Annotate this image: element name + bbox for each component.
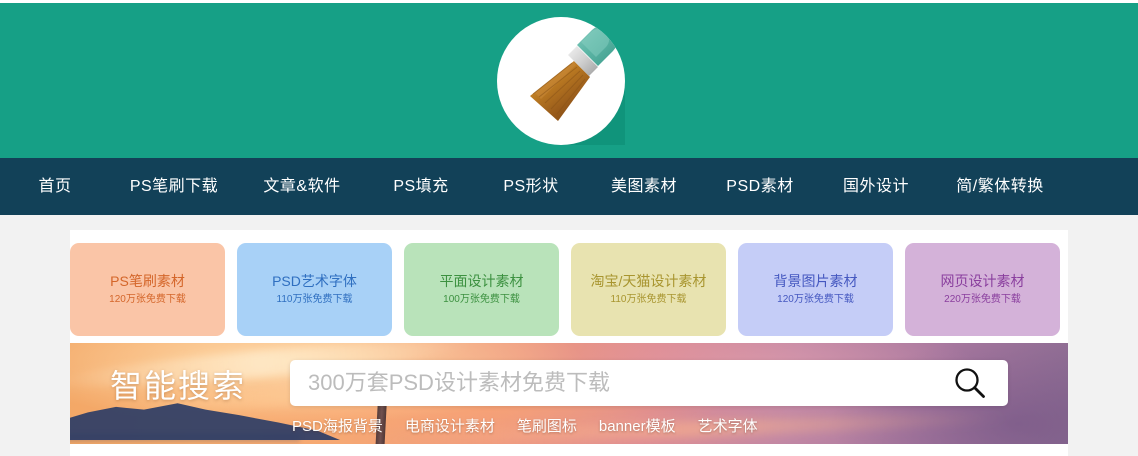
nav-item-articles[interactable]: 文章&软件 [238, 158, 366, 215]
search-banner: 智能搜索 PSD海报背景 电商设计素材 笔刷图标 banner模板 [70, 343, 1068, 444]
main-content: PS笔刷素材 120万张免费下载 PSD艺术字体 110万张免费下载 平面设计素… [0, 215, 1138, 456]
logo-circle [497, 17, 625, 145]
card-title: PSD艺术字体 [272, 271, 357, 291]
tag-art-font[interactable]: 艺术字体 [698, 415, 758, 436]
nav-item-ps-fill[interactable]: PS填充 [366, 158, 476, 215]
nav-item-convert[interactable]: 简/繁体转换 [934, 158, 1066, 215]
card-title: 背景图片素材 [774, 271, 858, 291]
nav-item-home[interactable]: 首页 [0, 158, 110, 215]
search-button[interactable] [932, 360, 1008, 406]
card-subtitle: 220万张免费下载 [944, 291, 1021, 308]
main-navigation: 首页 PS笔刷下载 文章&软件 PS填充 PS形状 美图素材 PSD素材 国外设… [0, 158, 1138, 215]
category-card-taobao-tmall[interactable]: 淘宝/天猫设计素材 110万张免费下载 [571, 243, 726, 336]
smart-search-label: 智能搜索 [110, 361, 246, 407]
popular-tag-list: PSD海报背景 电商设计素材 笔刷图标 banner模板 艺术字体 [292, 415, 758, 436]
category-card-ps-brush[interactable]: PS笔刷素材 120万张免费下载 [70, 243, 225, 336]
page-root: 首页 PS笔刷下载 文章&软件 PS填充 PS形状 美图素材 PSD素材 国外设… [0, 0, 1138, 456]
site-logo[interactable] [497, 17, 625, 145]
tag-brush-icon[interactable]: 笔刷图标 [517, 415, 577, 436]
card-title: PS笔刷素材 [110, 271, 185, 291]
card-subtitle: 120万张免费下载 [109, 291, 186, 308]
nav-item-ps-brush[interactable]: PS笔刷下载 [110, 158, 238, 215]
nav-item-ps-shape[interactable]: PS形状 [476, 158, 586, 215]
card-title: 网页设计素材 [941, 271, 1025, 291]
category-card-background-image[interactable]: 背景图片素材 120万张免费下载 [738, 243, 893, 336]
search-input[interactable] [290, 370, 932, 396]
tag-psd-poster-bg[interactable]: PSD海报背景 [292, 415, 383, 436]
category-card-row: PS笔刷素材 120万张免费下载 PSD艺术字体 110万张免费下载 平面设计素… [70, 230, 1068, 335]
category-card-web-design[interactable]: 网页设计素材 220万张免费下载 [905, 243, 1060, 336]
nav-item-photo[interactable]: 美图素材 [586, 158, 702, 215]
search-box[interactable] [290, 360, 1008, 406]
category-card-psd-font[interactable]: PSD艺术字体 110万张免费下载 [237, 243, 392, 336]
banner-mountain-reflection [70, 434, 300, 444]
card-title: 淘宝/天猫设计素材 [591, 271, 707, 291]
category-card-graphic-design[interactable]: 平面设计素材 100万张免费下载 [404, 243, 559, 336]
card-subtitle: 110万张免费下载 [277, 291, 353, 308]
tag-ecommerce[interactable]: 电商设计素材 [405, 415, 495, 436]
search-icon [953, 366, 987, 400]
nav-item-foreign[interactable]: 国外设计 [818, 158, 934, 215]
card-title: 平面设计素材 [440, 271, 524, 291]
site-header [0, 3, 1138, 158]
tag-banner-template[interactable]: banner模板 [599, 415, 676, 436]
card-subtitle: 100万张免费下载 [443, 291, 520, 308]
card-subtitle: 120万张免费下载 [777, 291, 854, 308]
nav-item-psd[interactable]: PSD素材 [702, 158, 818, 215]
card-subtitle: 110万张免费下载 [611, 291, 687, 308]
content-panel: PS笔刷素材 120万张免费下载 PSD艺术字体 110万张免费下载 平面设计素… [70, 230, 1068, 456]
paintbrush-icon [497, 17, 625, 145]
